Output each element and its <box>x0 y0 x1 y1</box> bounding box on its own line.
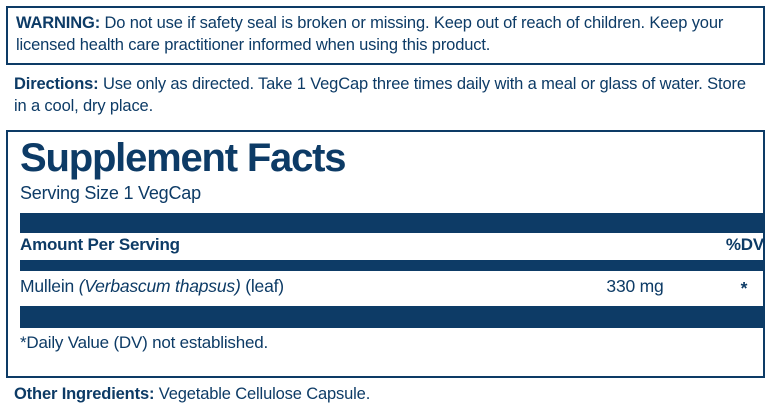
other-ingredients-label: Other Ingredients: <box>14 385 154 403</box>
table-header-row: Amount Per Serving %DV <box>20 233 764 256</box>
ingredient-common-name: Mullein <box>20 276 79 296</box>
ingredient-amount: 330 mg <box>590 276 680 297</box>
amount-per-serving-header: Amount Per Serving <box>20 235 180 255</box>
warning-label: WARNING: <box>16 14 100 32</box>
supplement-facts-panel: Supplement Facts Serving Size 1 VegCap A… <box>6 130 765 378</box>
percent-dv-header: %DV <box>726 235 764 255</box>
supplement-label: WARNING: Do not use if safety seal is br… <box>0 0 773 405</box>
directions-block: Directions: Use only as directed. Take 1… <box>14 74 762 118</box>
ingredient-plant-part: (leaf) <box>241 276 284 296</box>
ingredient-daily-value: * <box>724 278 764 299</box>
ingredient-name: Mullein (Verbascum thapsus) (leaf) <box>20 276 284 297</box>
divider-bar-thick-bottom <box>20 306 764 328</box>
divider-bar-thick-top <box>20 213 764 233</box>
warning-body: Do not use if safety seal is broken or m… <box>16 14 723 54</box>
warning-text: WARNING: Do not use if safety seal is br… <box>16 13 755 57</box>
other-ingredients-block: Other Ingredients: Vegetable Cellulose C… <box>14 385 762 404</box>
directions-label: Directions: <box>14 75 99 93</box>
divider-bar-thin <box>20 260 764 271</box>
directions-text: Directions: Use only as directed. Take 1… <box>14 74 762 118</box>
serving-size-text: Serving Size 1 VegCap <box>20 184 756 204</box>
other-ingredients-body: Vegetable Cellulose Capsule. <box>154 385 370 403</box>
warning-box: WARNING: Do not use if safety seal is br… <box>6 6 765 65</box>
ingredient-scientific-name: (Verbascum thapsus) <box>79 276 241 296</box>
daily-value-footnote: *Daily Value (DV) not established. <box>20 333 756 353</box>
table-row: Mullein (Verbascum thapsus) (leaf) 330 m… <box>20 275 764 301</box>
supplement-facts-title: Supplement Facts <box>20 138 756 178</box>
directions-body: Use only as directed. Take 1 VegCap thre… <box>14 75 746 115</box>
